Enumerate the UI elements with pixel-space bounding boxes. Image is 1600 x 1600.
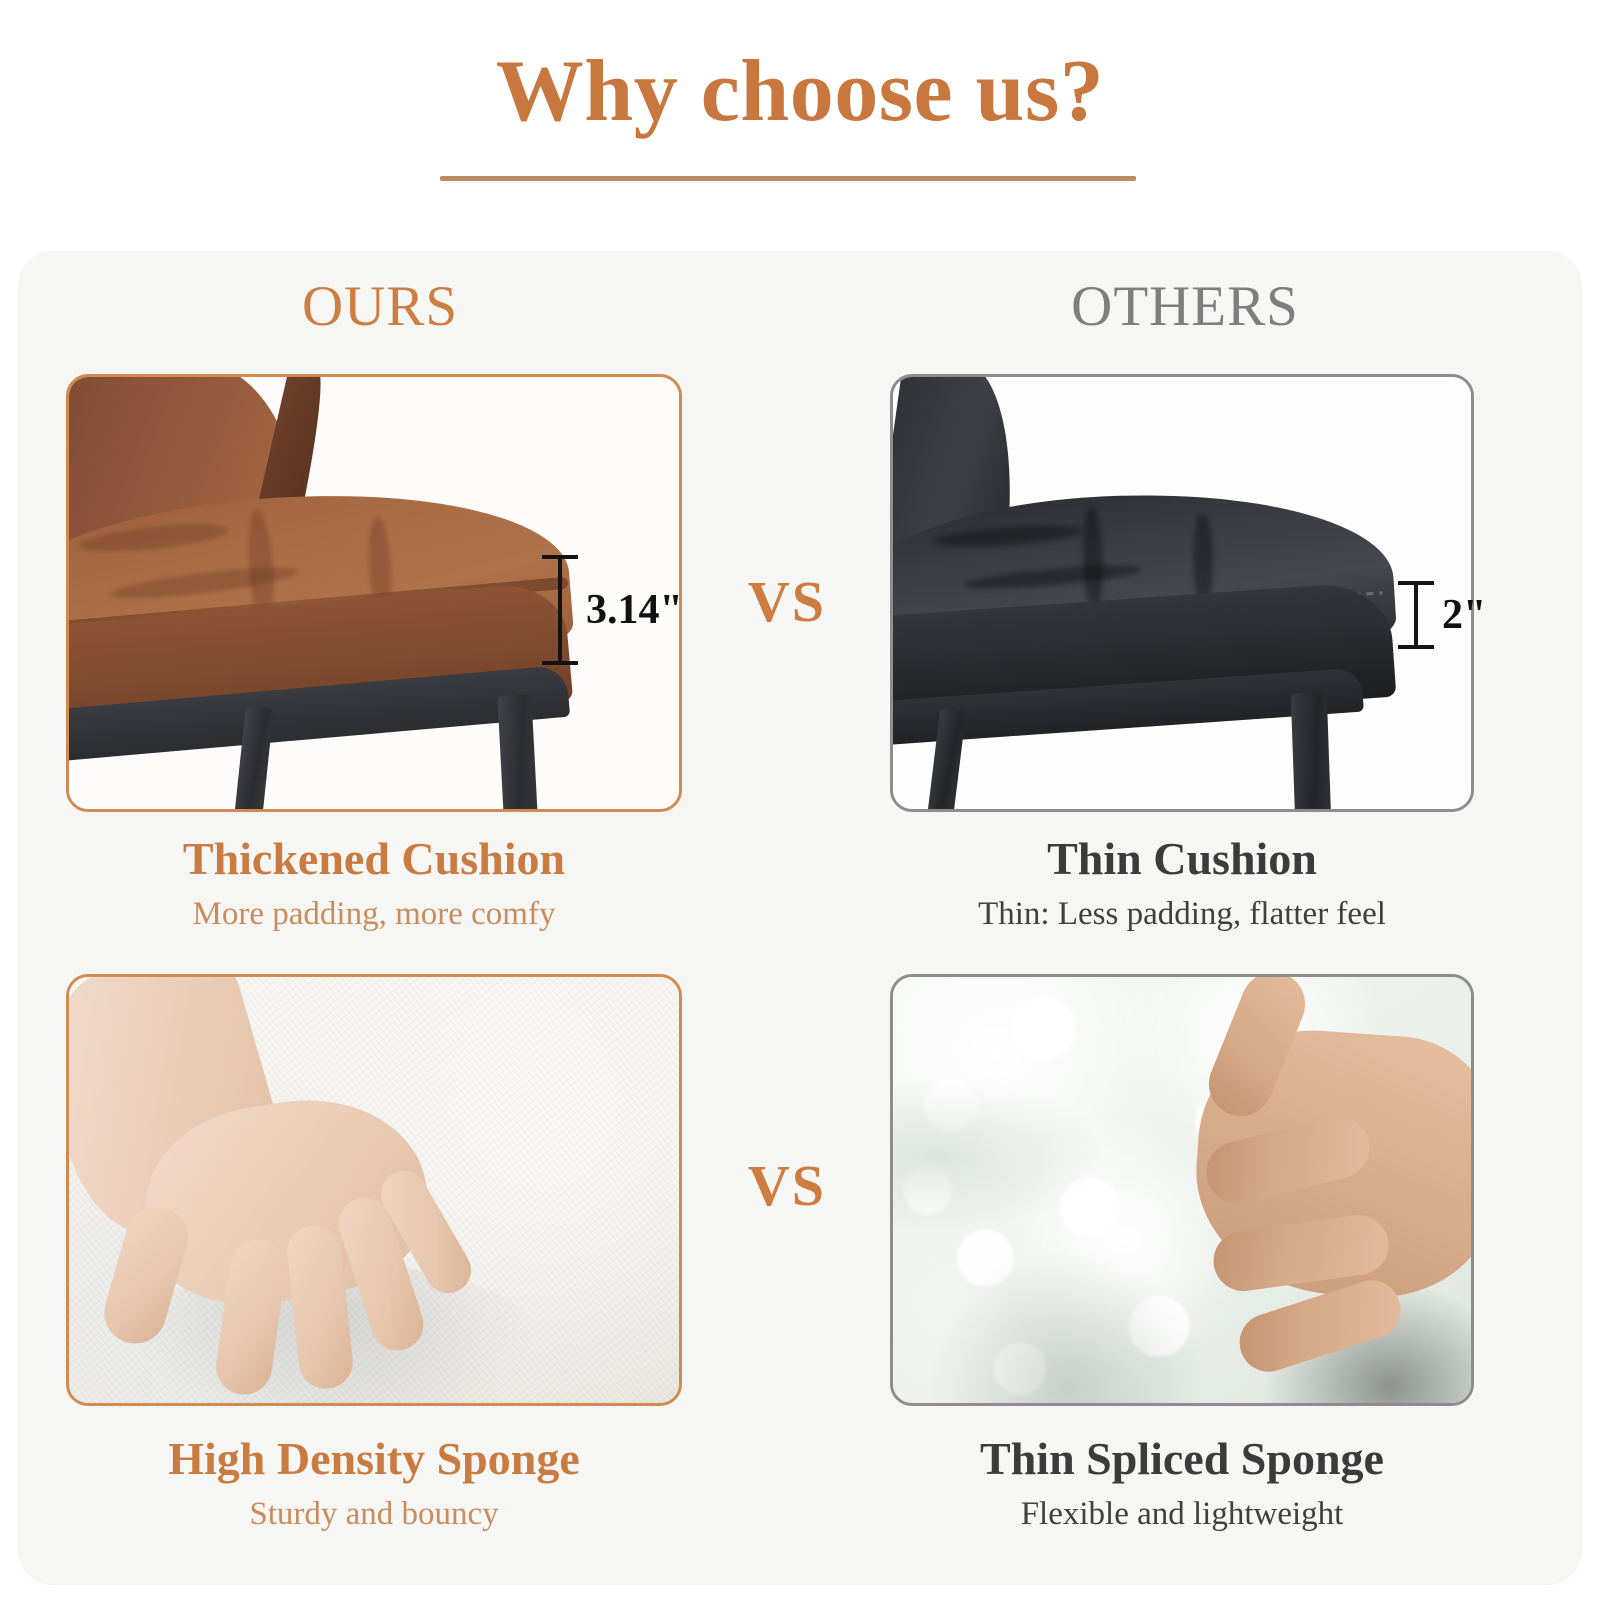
- ours-cushion-caption-subtitle: More padding, more comfy: [66, 893, 682, 935]
- others-sponge-caption: Thin Spliced Sponge Flexible and lightwe…: [890, 1432, 1474, 1536]
- hand-on-foam-illustration: [69, 977, 679, 1403]
- others-cushion-caption: Thin Cushion Thin: Less padding, flatter…: [890, 832, 1474, 936]
- others-cushion-dimension-label: 2": [1442, 591, 1486, 639]
- others-sponge-caption-subtitle: Flexible and lightweight: [890, 1493, 1474, 1535]
- infographic-page: Why choose us? OURS OTHERS 3.14" VS: [0, 0, 1600, 1600]
- ours-sponge-photo: [66, 974, 682, 1406]
- dimension-line: [558, 557, 562, 663]
- ours-cushion-caption: Thickened Cushion More padding, more com…: [66, 832, 682, 936]
- others-sponge-caption-title: Thin Spliced Sponge: [890, 1432, 1474, 1486]
- ours-cushion-caption-title: Thickened Cushion: [66, 832, 682, 886]
- ours-sponge-caption: High Density Sponge Sturdy and bouncy: [66, 1432, 682, 1536]
- others-cushion-photo: [890, 374, 1474, 812]
- ours-cushion-dimension-marker: 3.14": [542, 548, 578, 672]
- black-chair-illustration: [893, 377, 1471, 809]
- ours-sponge-caption-subtitle: Sturdy and bouncy: [66, 1493, 682, 1535]
- dimension-cap-bottom: [542, 661, 578, 665]
- column-header-ours: OURS: [80, 278, 680, 335]
- hand-shape: [1027, 985, 1474, 1405]
- page-title: Why choose us?: [0, 44, 1600, 141]
- others-sponge-photo: [890, 974, 1474, 1406]
- vs-badge-top: VS: [707, 568, 867, 635]
- column-header-others: OTHERS: [890, 278, 1480, 335]
- dimension-line: [1414, 583, 1418, 647]
- hand-on-fiber-fill-illustration: [893, 977, 1471, 1403]
- ours-sponge-caption-title: High Density Sponge: [66, 1432, 682, 1486]
- title-underline-divider: [440, 176, 1136, 181]
- others-cushion-caption-subtitle: Thin: Less padding, flatter feel: [890, 893, 1474, 935]
- vs-badge-bottom: VS: [707, 1152, 867, 1219]
- chair-leg-shape: [1291, 692, 1332, 812]
- others-cushion-dimension-marker: 2": [1398, 574, 1434, 656]
- dimension-cap-bottom: [1398, 645, 1434, 649]
- others-cushion-caption-title: Thin Cushion: [890, 832, 1474, 886]
- hand-shape: [66, 974, 615, 1406]
- ours-cushion-dimension-label: 3.14": [586, 586, 683, 634]
